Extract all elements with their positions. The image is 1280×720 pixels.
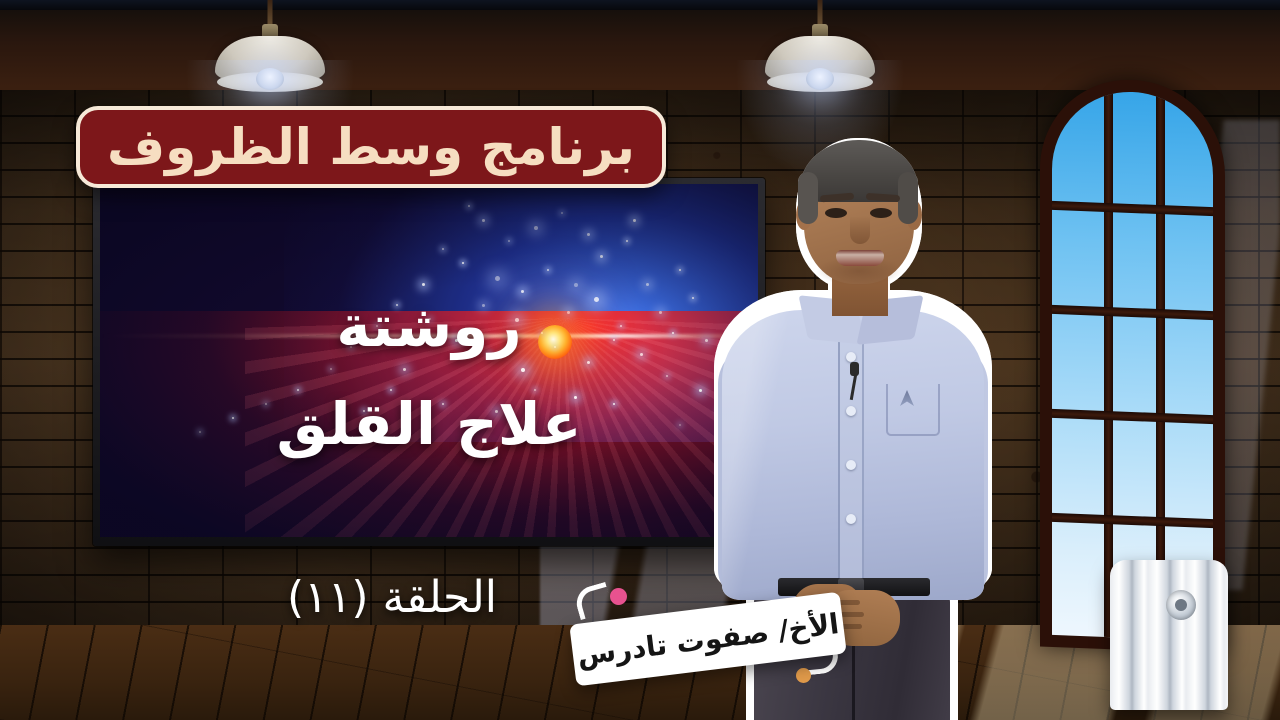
- episode-label: الحلقة (١١): [232, 572, 552, 623]
- presenter-shirt-pocket: [886, 384, 940, 436]
- window-glass: [1052, 89, 1213, 641]
- radiator-valve-icon: [1166, 590, 1196, 620]
- window-mullion-horizontal: [1052, 513, 1213, 528]
- ceiling-edge-strip: [0, 0, 1280, 10]
- window-mullion-vertical: [1156, 93, 1165, 639]
- window-mullion-horizontal: [1052, 201, 1213, 216]
- screen-title-line-2: علاج القلق: [100, 390, 758, 458]
- presentation-screen: روشتة علاج القلق: [100, 184, 758, 537]
- presenter-hair-side-right: [898, 172, 918, 224]
- lamp-bulb-icon: [256, 68, 284, 90]
- presenter-nose: [850, 216, 870, 244]
- window-mullion-vertical: [1104, 91, 1113, 637]
- screen-title-line-1: روشتة: [100, 292, 758, 360]
- presenter-eye-right: [870, 208, 892, 218]
- program-title-text: برنامج وسط الظروف: [107, 122, 635, 172]
- window-mullion-horizontal: [1052, 305, 1213, 320]
- presenter-shirt-button: [846, 460, 856, 470]
- presenter-shirt-button: [846, 352, 856, 362]
- screen-inner-vignette: [100, 184, 758, 537]
- presenter-mouth: [836, 250, 884, 266]
- presentation-screen-frame: روشتة علاج القلق: [93, 178, 765, 546]
- radiator: [1110, 560, 1228, 710]
- decorative-dot-pink: [610, 588, 627, 605]
- presenter-shirt-button: [846, 514, 856, 524]
- decorative-dot-orange: [796, 668, 811, 683]
- presenter-shirt-button: [846, 406, 856, 416]
- program-title-banner: برنامج وسط الظروف: [76, 106, 666, 188]
- window-mullion-horizontal: [1052, 409, 1213, 424]
- presenter-hair-side-left: [798, 172, 818, 224]
- presenter-eye-left: [825, 208, 847, 218]
- video-frame: روشتة علاج القلق برنامج وسط الظروف الحلق…: [0, 0, 1280, 720]
- lamp-bulb-icon: [806, 68, 834, 90]
